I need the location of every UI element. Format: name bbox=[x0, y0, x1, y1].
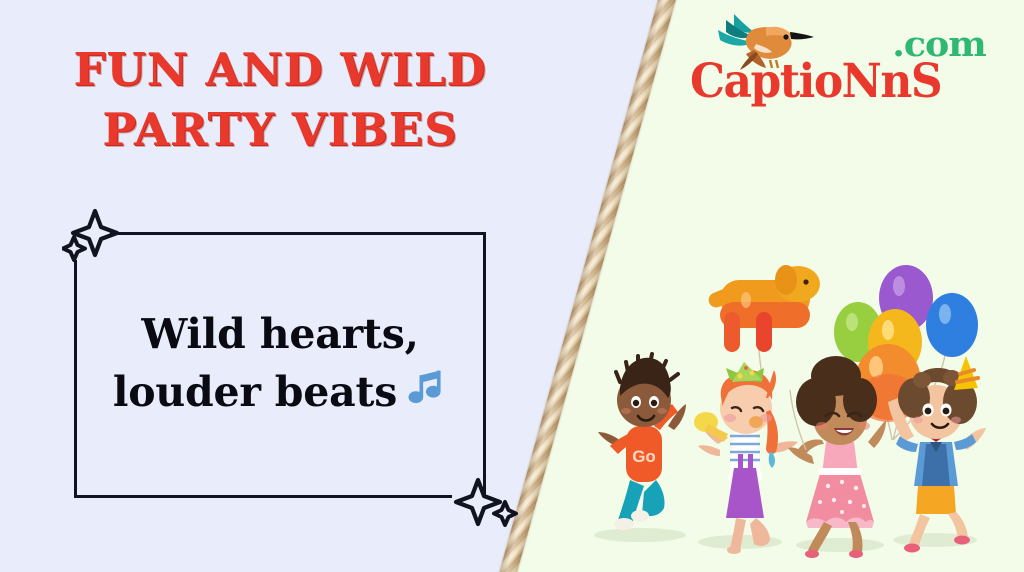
site-logo[interactable]: .com CaptioNnS bbox=[696, 6, 986, 114]
quote-line-2: louder beats bbox=[113, 368, 397, 416]
sparkle-decoration-top-left bbox=[62, 205, 132, 272]
dancing-children-party-illustration: Go bbox=[540, 230, 1024, 572]
girl-party-horn bbox=[694, 362, 798, 554]
boy-orange-shirt: Go bbox=[598, 354, 686, 530]
musical-note-emoji bbox=[403, 366, 447, 425]
quote-text-block: Wild hearts, louder beats bbox=[74, 232, 486, 498]
headline-line-2: PARTY VIBES bbox=[0, 100, 560, 160]
logo-brand: CaptioNnS bbox=[690, 54, 941, 108]
poster-canvas: FUN AND WILD PARTY VIBES Wild hearts, lo… bbox=[0, 0, 1024, 572]
quote-line-1: Wild hearts, bbox=[141, 305, 418, 363]
girl-pink-dress bbox=[788, 356, 886, 558]
svg-text:Go: Go bbox=[632, 447, 656, 466]
headline-line-1: FUN AND WILD bbox=[74, 43, 487, 96]
page-title: FUN AND WILD PARTY VIBES bbox=[0, 40, 560, 160]
sparkle-decoration-bottom-right bbox=[452, 472, 522, 539]
boy-blue-vest bbox=[888, 356, 986, 553]
quote-line-2-wrap: louder beats bbox=[113, 363, 447, 425]
